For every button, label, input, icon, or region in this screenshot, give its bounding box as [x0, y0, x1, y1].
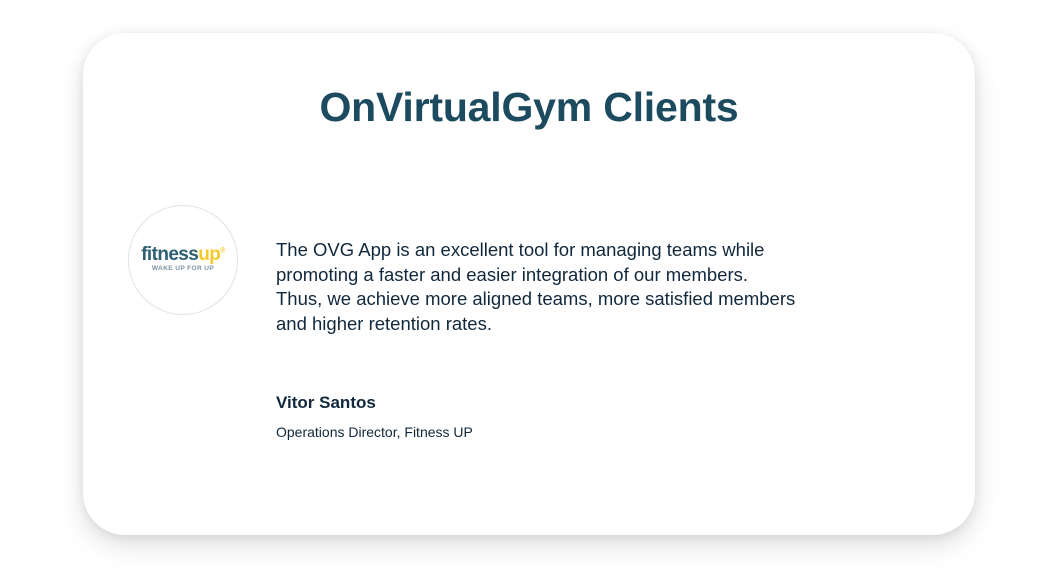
author-name: Vitor Santos — [276, 393, 836, 413]
logo-word-accent: up — [198, 244, 220, 265]
quote-line: promoting a faster and easier integratio… — [276, 263, 916, 288]
testimonial-card: OnVirtualGym Clients fitnessup® WAKE UP … — [83, 33, 975, 535]
author-role: Operations Director, Fitness UP — [276, 424, 836, 441]
client-logo-badge: fitnessup® WAKE UP FOR UP — [128, 205, 238, 315]
quote-line: and higher retention rates. — [276, 312, 916, 337]
registered-trademark-icon: ® — [220, 248, 225, 255]
logo-word-primary: fitness — [141, 244, 198, 265]
quote-line: The OVG App is an excellent tool for man… — [276, 238, 916, 263]
fitnessup-logo-icon: fitnessup® WAKE UP FOR UP — [141, 245, 225, 273]
logo-tagline: WAKE UP FOR UP — [141, 266, 225, 273]
page-title: OnVirtualGym Clients — [83, 85, 975, 130]
quote-line: Thus, we achieve more aligned teams, mor… — [276, 287, 916, 312]
logo-wordmark: fitnessup® — [141, 245, 225, 264]
testimonial-attribution: Vitor Santos Operations Director, Fitnes… — [276, 393, 836, 441]
page-canvas: OnVirtualGym Clients fitnessup® WAKE UP … — [0, 0, 1046, 582]
testimonial-quote: The OVG App is an excellent tool for man… — [276, 238, 916, 336]
